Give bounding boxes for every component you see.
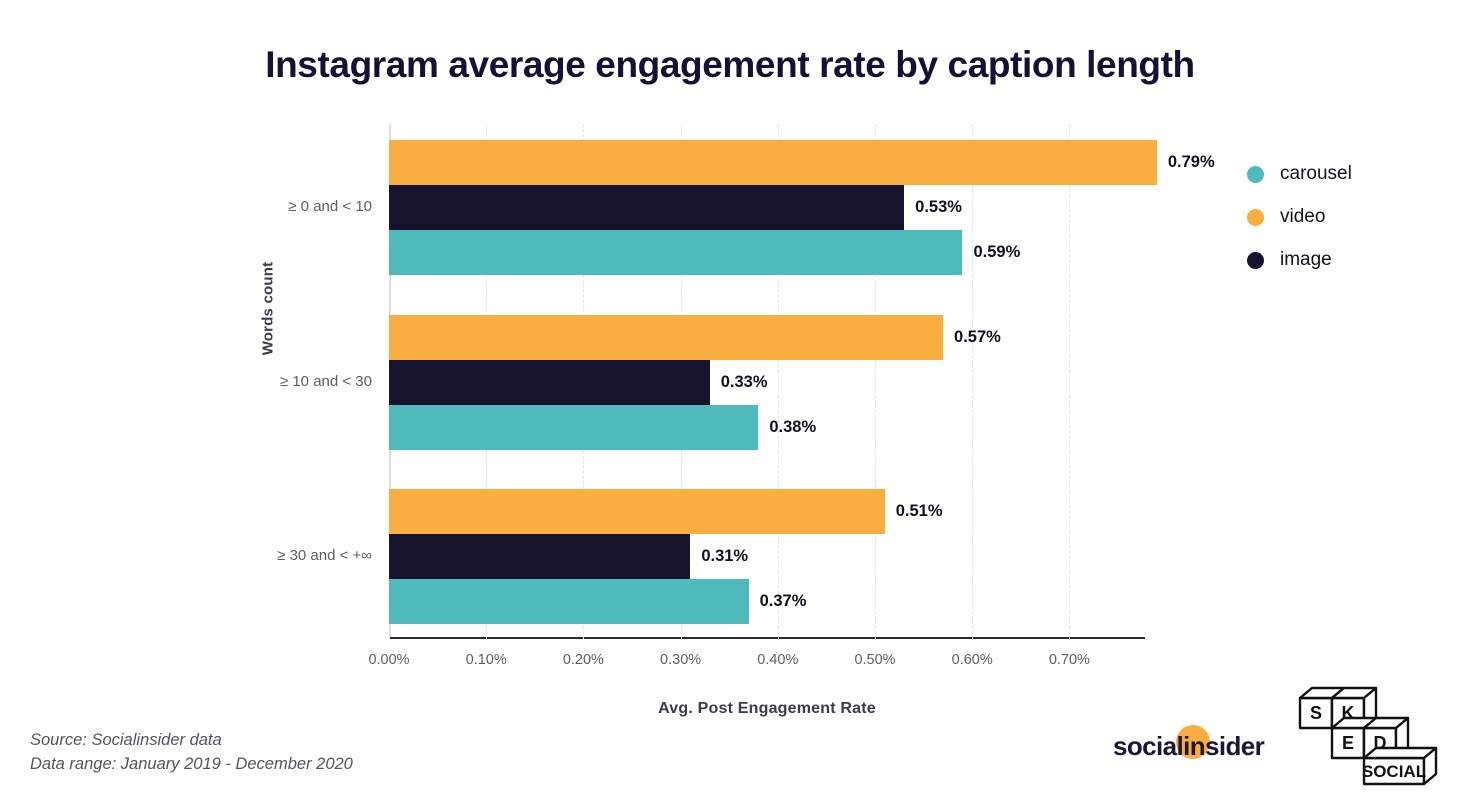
bar-video[interactable] (389, 315, 943, 360)
socialinsider-wordmark: socialinsider (1113, 731, 1264, 761)
x-axis-title: Avg. Post Engagement Rate (389, 700, 1145, 718)
bars-layer: 0.79%0.53%0.59%0.57%0.33%0.38%0.51%0.31%… (389, 124, 1289, 639)
x-tick-label: 0.10% (441, 652, 531, 668)
legend-item-video[interactable]: video (1247, 206, 1352, 228)
legend-label: carousel (1280, 163, 1352, 185)
svg-text:S: S (1310, 703, 1322, 723)
bar-value-label: 0.33% (721, 360, 768, 405)
page-title: Instagram average engagement rate by cap… (0, 44, 1460, 86)
x-tick-label: 0.70% (1024, 652, 1114, 668)
legend-label: video (1280, 206, 1325, 228)
bar-value-label: 0.59% (973, 230, 1020, 275)
bar-value-label: 0.37% (760, 579, 807, 624)
chart-page: Instagram average engagement rate by cap… (0, 0, 1460, 800)
legend-swatch-icon (1247, 166, 1264, 183)
legend-swatch-icon (1247, 209, 1264, 226)
bar-image[interactable] (389, 360, 710, 405)
svg-text:SOCIAL: SOCIAL (1362, 762, 1426, 781)
x-tick-label: 0.00% (344, 652, 434, 668)
x-tick-label: 0.50% (830, 652, 920, 668)
y-tick-label: ≥ 30 and < +∞ (277, 547, 372, 564)
bar-image[interactable] (389, 185, 904, 230)
legend: carouselvideoimage (1247, 163, 1352, 292)
legend-swatch-icon (1247, 252, 1264, 269)
bar-value-label: 0.53% (915, 185, 962, 230)
bar-carousel[interactable] (389, 579, 749, 624)
x-tick-label: 0.30% (636, 652, 726, 668)
bar-video[interactable] (389, 489, 885, 534)
bar-value-label: 0.51% (896, 489, 943, 534)
footer-note: Source: Socialinsider data Data range: J… (30, 729, 353, 777)
svg-text:E: E (1342, 733, 1354, 753)
data-range-text: Data range: January 2019 - December 2020 (30, 753, 353, 777)
bar-video[interactable] (389, 140, 1157, 185)
legend-item-carousel[interactable]: carousel (1247, 163, 1352, 185)
bar-value-label: 0.38% (769, 405, 816, 450)
socialinsider-logo: socialinsider (1113, 731, 1264, 762)
legend-item-image[interactable]: image (1247, 249, 1352, 271)
sked-social-icon: S K E D SOCIAL (1292, 684, 1442, 789)
bar-carousel[interactable] (389, 405, 758, 450)
x-tick-label: 0.40% (733, 652, 823, 668)
y-tick-label: ≥ 0 and < 10 (288, 198, 372, 215)
legend-label: image (1280, 249, 1332, 271)
y-axis-title: Words count (260, 229, 277, 389)
bar-image[interactable] (389, 534, 690, 579)
sked-social-logo: S K E D SOCIAL (1292, 684, 1442, 789)
svg-text:D: D (1374, 733, 1387, 753)
source-text: Source: Socialinsider data (30, 729, 353, 753)
svg-text:K: K (1342, 703, 1355, 723)
bar-carousel[interactable] (389, 230, 962, 275)
y-tick-label: ≥ 10 and < 30 (280, 373, 372, 390)
bar-value-label: 0.57% (954, 315, 1001, 360)
bar-value-label: 0.79% (1168, 140, 1215, 185)
x-tick-label: 0.20% (538, 652, 628, 668)
bar-value-label: 0.31% (701, 534, 748, 579)
x-tick-label: 0.60% (927, 652, 1017, 668)
